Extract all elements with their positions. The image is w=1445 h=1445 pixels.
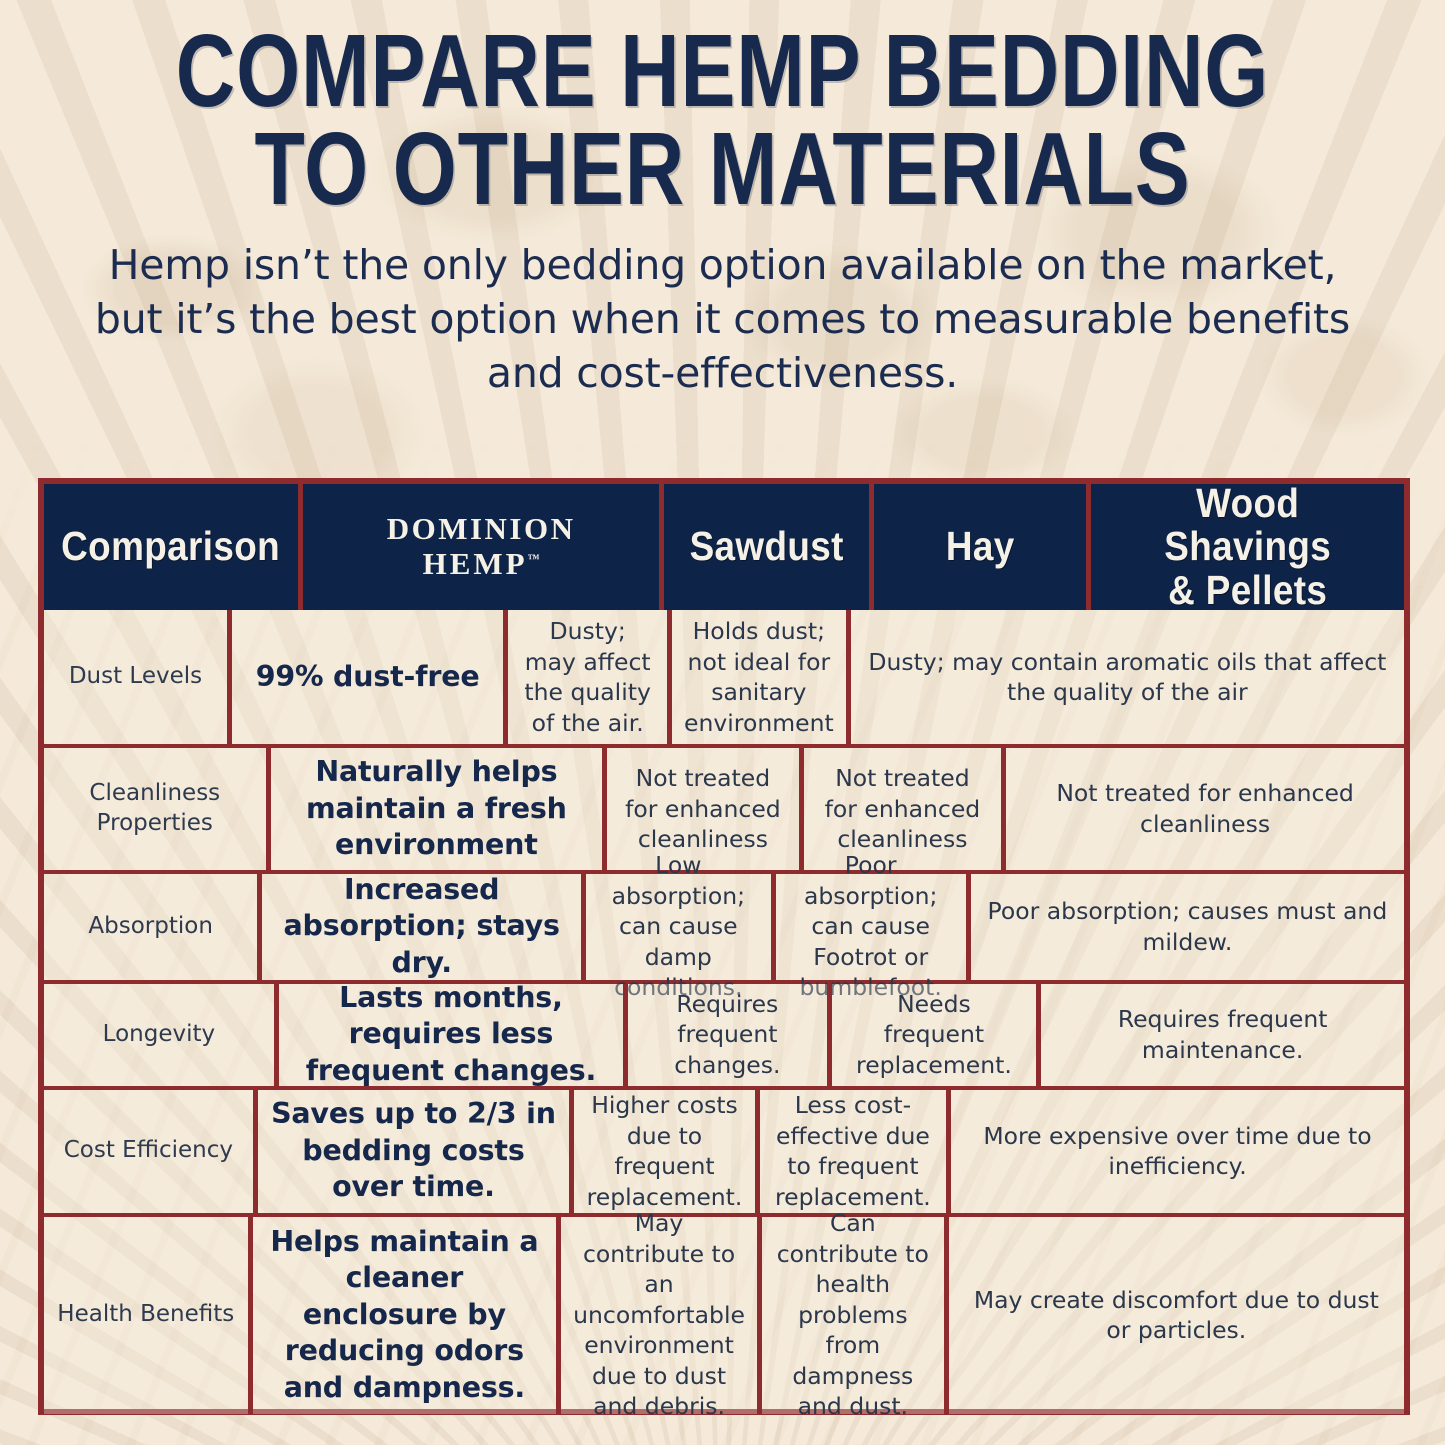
cell-wood: May create discomfort due to dust or par…: [949, 1217, 1404, 1414]
table-row: Cost Efficiency Saves up to 2/3 in beddi…: [44, 1090, 1404, 1217]
header-cell-wood-shavings-pellets: Wood Shavings & Pellets: [1091, 484, 1404, 610]
header-cell-comparison: Comparison: [44, 484, 303, 610]
cell-value-sawdust: May contribute to an uncomfortable envir…: [573, 1208, 745, 1422]
table-row: Health Benefits Helps maintain a cleaner…: [44, 1217, 1404, 1414]
cell-hemp: Naturally helps maintain a fresh environ…: [271, 748, 608, 869]
cell-hemp: Saves up to 2/3 in bedding costs over ti…: [258, 1090, 575, 1213]
cell-hemp: Helps maintain a cleaner enclosure by re…: [253, 1217, 562, 1414]
trademark-icon: ™: [528, 552, 540, 566]
header-cell-dominion-hemp: DOMINION HEMP™: [303, 484, 664, 610]
cell-sawdust: Requires frequent changes.: [628, 984, 831, 1086]
header-cell-sawdust: Sawdust: [664, 484, 874, 610]
cell-wood: Requires frequent maintenance.: [1041, 984, 1404, 1086]
cell-value-hay: Holds dust; not ideal for sanitary envir…: [684, 616, 834, 738]
cell-value-wood: More expensive over time due to ineffici…: [963, 1121, 1392, 1182]
title-line-2: TO OTHER MATERIALS: [145, 120, 1301, 218]
row-label: Cleanliness Properties: [56, 779, 254, 838]
header-label-wood-shavings-pellets: Wood Shavings & Pellets: [1117, 482, 1378, 612]
cell-value-hay: Not treated for enhanced cleanliness: [816, 763, 990, 855]
page-subtitle: Hemp isn’t the only bedding option avail…: [0, 238, 1445, 400]
row-label-cell: Absorption: [44, 874, 262, 980]
cell-hay: Needs frequent replacement.: [832, 984, 1042, 1086]
cell-wood: Poor absorption; causes must and mildew.: [971, 874, 1404, 980]
row-label-cell: Cleanliness Properties: [44, 748, 271, 869]
logo-line-dominion: DOMINION: [387, 512, 576, 547]
cell-value-sawdust: Higher costs due to frequent replacement…: [586, 1090, 743, 1212]
cell-hemp: Lasts months, requires less frequent cha…: [279, 984, 628, 1086]
cell-sawdust: Dusty; may affect the quality of the air…: [508, 610, 672, 744]
cell-value-sawdust: Dusty; may affect the quality of the air…: [520, 616, 655, 738]
row-label: Absorption: [88, 912, 213, 941]
row-label-cell: Health Benefits: [44, 1217, 253, 1414]
cell-hemp: 99% dust-free: [232, 610, 508, 744]
cell-value-hemp: 99% dust-free: [256, 659, 480, 695]
row-label-cell: Cost Efficiency: [44, 1090, 258, 1213]
cell-sawdust: Low absorption; can cause damp condition…: [586, 874, 776, 980]
infographic-page: COMPARE HEMP BEDDING TO OTHER MATERIALS …: [0, 0, 1445, 1445]
table-row: Dust Levels 99% dust-free Dusty; may aff…: [44, 610, 1404, 748]
header-label-sawdust: Sawdust: [690, 525, 844, 568]
cell-hay: Can contribute to health problems from d…: [762, 1217, 949, 1414]
cell-value-wood: Requires frequent maintenance.: [1053, 1004, 1392, 1065]
header-cell-hay: Hay: [874, 484, 1090, 610]
cell-wood: More expensive over time due to ineffici…: [951, 1090, 1404, 1213]
dominion-hemp-logo: DOMINION HEMP™: [387, 512, 576, 581]
comparison-table: Comparison DOMINION HEMP™ Sawdust Hay Wo…: [38, 478, 1410, 1415]
cell-wood: Dusty; may contain aromatic oils that af…: [851, 610, 1404, 744]
cell-value-hay: Less cost-effective due to frequent repl…: [772, 1090, 934, 1212]
cell-value-wood: Poor absorption; causes must and mildew.: [983, 896, 1392, 957]
table-header-row: Comparison DOMINION HEMP™ Sawdust Hay Wo…: [44, 484, 1404, 610]
header-label-line-2: & Pellets: [1168, 567, 1327, 613]
cell-value-hemp: Saves up to 2/3 in bedding costs over ti…: [270, 1096, 558, 1205]
cell-hemp: Increased absorption; stays dry.: [262, 874, 586, 980]
page-title: COMPARE HEMP BEDDING TO OTHER MATERIALS: [145, 22, 1301, 218]
cell-wood: Not treated for enhanced cleanliness: [1006, 748, 1404, 869]
cell-hay: Poor absorption; can cause Footrot or bu…: [776, 874, 971, 980]
cell-value-wood: May create discomfort due to dust or par…: [961, 1285, 1392, 1346]
cell-sawdust: May contribute to an uncomfortable envir…: [561, 1217, 762, 1414]
table-row: Absorption Increased absorption; stays d…: [44, 874, 1404, 984]
table-row: Longevity Lasts months, requires less fr…: [44, 984, 1404, 1090]
cell-value-hemp: Naturally helps maintain a fresh environ…: [283, 754, 591, 863]
cell-hay: Holds dust; not ideal for sanitary envir…: [672, 610, 851, 744]
row-label: Dust Levels: [69, 662, 202, 691]
cell-sawdust: Higher costs due to frequent replacement…: [574, 1090, 760, 1213]
row-label-cell: Dust Levels: [44, 610, 232, 744]
cell-value-hay: Can contribute to health problems from d…: [774, 1208, 932, 1422]
cell-value-hay: Needs frequent replacement.: [844, 989, 1025, 1081]
logo-line-hemp: HEMP™: [387, 547, 576, 582]
row-label: Longevity: [103, 1020, 215, 1049]
cell-hay: Less cost-effective due to frequent repl…: [760, 1090, 951, 1213]
row-label-cell: Longevity: [44, 984, 279, 1086]
cell-value-sawdust: Requires frequent changes.: [640, 989, 814, 1081]
cell-value-hay: Poor absorption; can cause Footrot or bu…: [788, 850, 954, 1003]
header-label-line-1: Wood Shavings: [1164, 480, 1331, 569]
row-label: Health Benefits: [57, 1300, 234, 1329]
cell-value-sawdust: Low absorption; can cause damp condition…: [598, 850, 759, 1003]
header-label-hay: Hay: [945, 525, 1014, 568]
cell-value-sawdust: Not treated for enhanced cleanliness: [619, 763, 787, 855]
cell-value-wood: Not treated for enhanced cleanliness: [1018, 778, 1392, 839]
cell-value-hemp: Increased absorption; stays dry.: [274, 872, 569, 981]
heading-block: COMPARE HEMP BEDDING TO OTHER MATERIALS …: [0, 22, 1445, 400]
cell-value-wood: Dusty; may contain aromatic oils that af…: [863, 647, 1392, 708]
header-label-comparison: Comparison: [62, 525, 281, 568]
cell-value-hemp: Helps maintain a cleaner enclosure by re…: [265, 1224, 545, 1406]
row-label: Cost Efficiency: [64, 1136, 233, 1165]
cell-value-hemp: Lasts months, requires less frequent cha…: [291, 980, 611, 1089]
